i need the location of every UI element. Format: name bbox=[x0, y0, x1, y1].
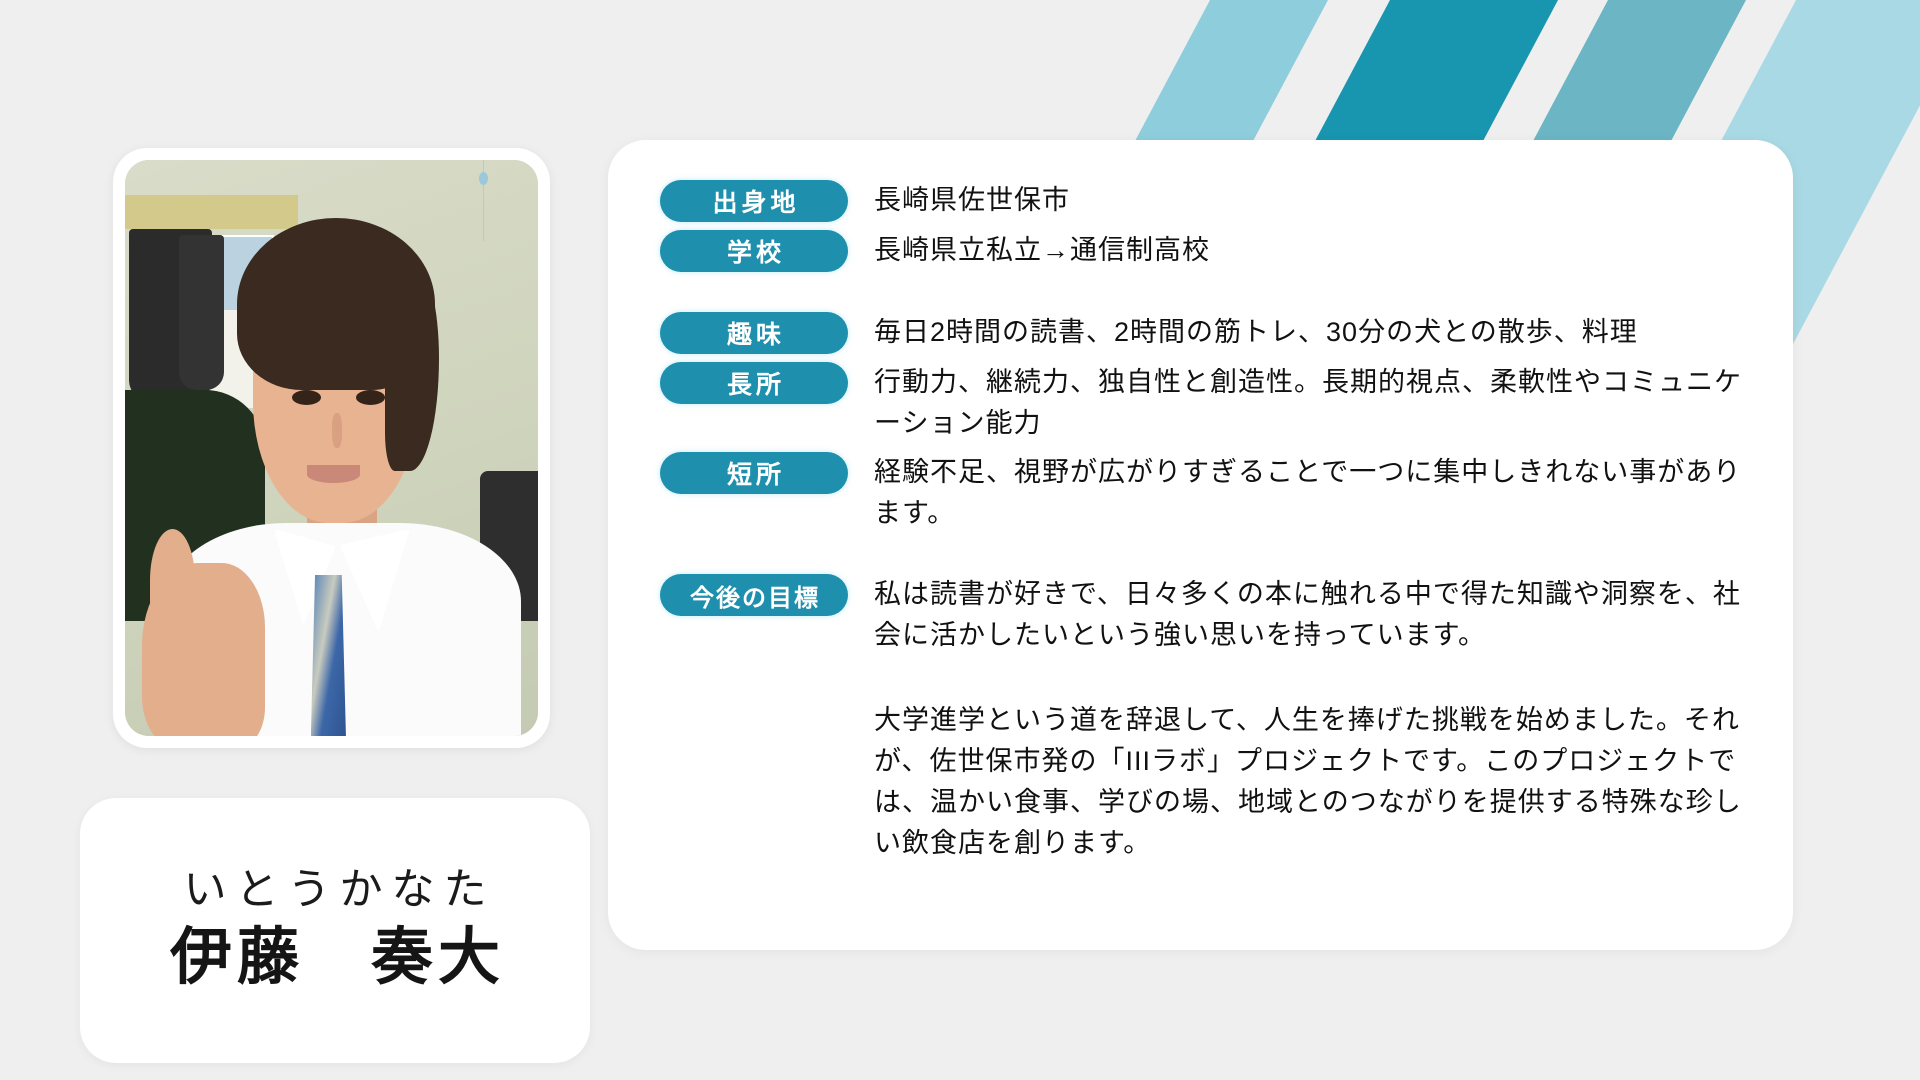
value-strength: 行動力、継続力、独自性と創造性。長期的視点、柔軟性やコミュニケーション能力 bbox=[874, 360, 1753, 444]
badge-hometown: 出身地 bbox=[660, 180, 848, 222]
portrait-photo-card bbox=[113, 148, 550, 748]
info-row-school: 学校 長崎県立私立→通信制高校 bbox=[660, 228, 1753, 272]
photo-blue-necktie bbox=[311, 575, 346, 736]
photo-hanging-coat-2 bbox=[179, 235, 224, 391]
badge-weakness: 短所 bbox=[660, 452, 848, 494]
closing-paragraph: 大学進学という道を辞退して、人生を捧げた挑戦を始めました。それが、佐世保市発の「… bbox=[874, 700, 1753, 864]
info-row-future-goal: 今後の目標 私は読書が好きで、日々多くの本に触れる中で得た知識や洞察を、社会に活… bbox=[660, 572, 1753, 656]
value-weakness: 経験不足、視野が広がりすぎることで一つに集中しきれない事があります。 bbox=[874, 450, 1753, 534]
value-hometown: 長崎県佐世保市 bbox=[874, 178, 1070, 221]
photo-hand bbox=[142, 563, 266, 736]
name-card: いとうかなた 伊藤 奏大 bbox=[80, 798, 590, 1063]
info-row-weakness: 短所 経験不足、視野が広がりすぎることで一つに集中しきれない事があります。 bbox=[660, 450, 1753, 534]
badge-future-goal: 今後の目標 bbox=[660, 574, 848, 616]
name-kanji: 伊藤 奏大 bbox=[165, 921, 505, 995]
info-row-hometown: 出身地 長崎県佐世保市 bbox=[660, 178, 1753, 222]
info-row-hobby: 趣味 毎日2時間の読書、2時間の筋トレ、30分の犬との散歩、料理 bbox=[660, 310, 1753, 354]
value-hobby: 毎日2時間の読書、2時間の筋トレ、30分の犬との散歩、料理 bbox=[874, 310, 1638, 353]
photo-mouth bbox=[307, 465, 361, 482]
slide-canvas: いとうかなた 伊藤 奏大 出身地 長崎県佐世保市 学校 長崎県立私立→通信制高校… bbox=[0, 0, 1920, 1080]
photo-shelf bbox=[125, 195, 298, 230]
info-row-strength: 長所 行動力、継続力、独自性と創造性。長期的視点、柔軟性やコミュニケーション能力 bbox=[660, 360, 1753, 444]
badge-school: 学校 bbox=[660, 230, 848, 272]
portrait-photo bbox=[125, 160, 538, 736]
value-future-goal: 私は読書が好きで、日々多くの本に触れる中で得た知識や洞察を、社会に活かしたいとい… bbox=[874, 572, 1753, 656]
badge-hobby: 趣味 bbox=[660, 312, 848, 354]
badge-strength: 長所 bbox=[660, 362, 848, 404]
name-kana: いとうかなた bbox=[175, 866, 496, 915]
photo-nose bbox=[332, 413, 342, 448]
value-school: 長崎県立私立→通信制高校 bbox=[874, 228, 1210, 271]
profile-info-card: 出身地 長崎県佐世保市 学校 長崎県立私立→通信制高校 趣味 毎日2時間の読書、… bbox=[608, 140, 1793, 950]
